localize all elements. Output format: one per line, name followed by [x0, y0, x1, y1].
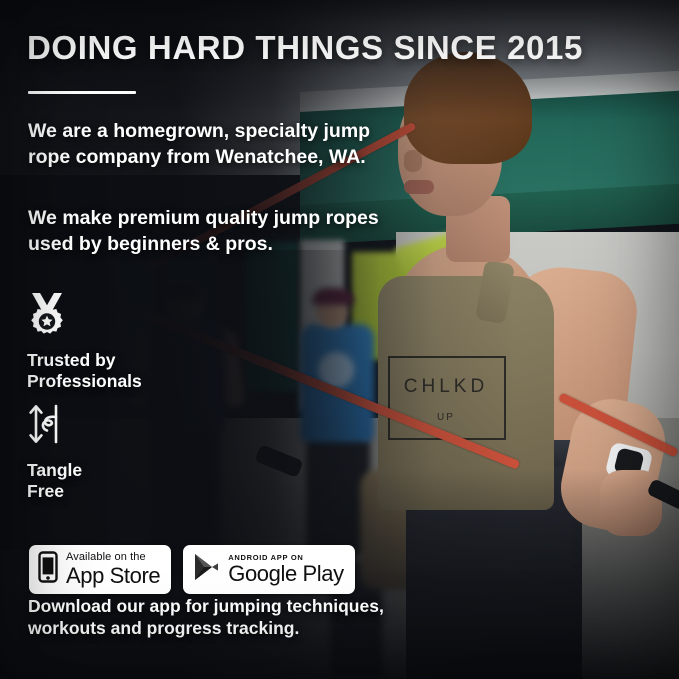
- intro-paragraph-1: We are a homegrown, specialty jump rope …: [28, 118, 398, 170]
- feature-label: Trusted by Professionals: [27, 350, 142, 392]
- tangle-free-icon: [27, 435, 67, 452]
- badge-big-text: Google Play: [228, 563, 343, 585]
- intro-paragraph-2: We make premium quality jump ropes used …: [28, 205, 398, 257]
- badge-small-text: Available on the: [66, 552, 160, 563]
- badge-small-text: ANDROID APP ON: [228, 554, 343, 562]
- download-caption: Download our app for jumping techniques,…: [28, 595, 428, 639]
- google-play-badge[interactable]: ANDROID APP ON Google Play: [183, 545, 354, 594]
- feature-tangle-free: Tangle Free: [27, 400, 82, 502]
- app-store-badge[interactable]: Available on the App Store: [29, 545, 171, 594]
- apple-iphone-icon: [38, 551, 58, 588]
- app-store-badges: Available on the App Store ANDROID APP O…: [29, 545, 355, 594]
- medal-icon: [27, 325, 67, 342]
- page-title: DOING HARD THINGS SINCE 2015: [27, 28, 647, 68]
- feature-label: Tangle Free: [27, 460, 82, 502]
- content-layer: DOING HARD THINGS SINCE 2015 We are a ho…: [0, 0, 679, 679]
- promo-banner: CHLKD UP DOING HARD THINGS SINCE 2015 We…: [0, 0, 679, 679]
- google-play-icon: [192, 552, 220, 587]
- title-divider: [28, 91, 136, 94]
- badge-big-text: App Store: [66, 565, 160, 587]
- feature-trusted-by-professionals: Trusted by Professionals: [27, 292, 142, 392]
